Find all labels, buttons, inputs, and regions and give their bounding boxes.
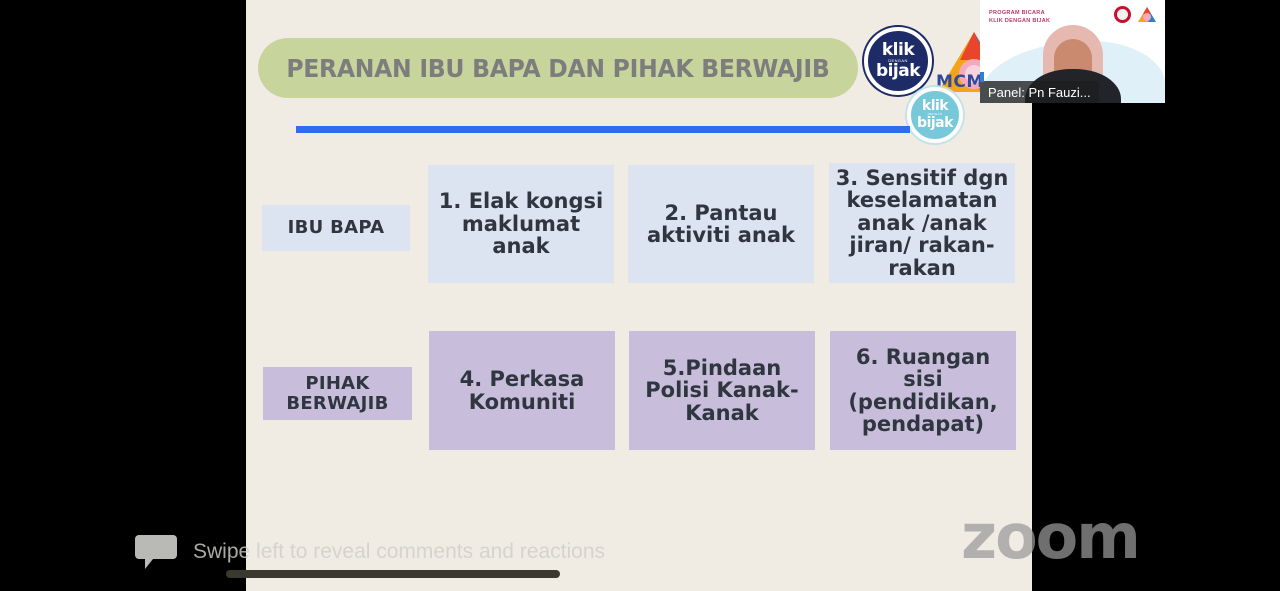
content-box-item-4: 4. Perkasa Komuniti [429,331,615,450]
logo-line-bijak: bijak [876,63,920,79]
program-title-line-1: PROGRAM BICARA [989,9,1050,17]
klik-dengan-bijak-dark-logo: klik DENGAN bijak [864,27,932,95]
klik-dengan-bijak-light-logo: klik DENGAN bijak [907,87,963,143]
logo-line-klik: klik [882,42,914,58]
panelist-video-thumbnail[interactable]: PROGRAM BICARA KLIK DENGAN BIJAK Panel: … [980,0,1165,103]
logo-line-klik: klik [922,100,948,113]
mcmc-triangle-icon [1137,6,1157,23]
thumbnail-accent-bar [980,72,984,82]
slide-title: PERANAN IBU BAPA DAN PIHAK BERWAJIB [286,54,829,83]
comments-hint-text: Swipe left to reveal comments and reacti… [193,540,605,564]
slide-title-banner: PERANAN IBU BAPA DAN PIHAK BERWAJIB [258,38,858,98]
title-divider-rule [296,126,910,133]
content-box-item-5: 5.Pindaan Polisi Kanak-Kanak [629,331,815,450]
speech-bubble-icon[interactable] [133,533,179,571]
category-label-ibu-bapa: IBU BAPA [262,205,410,251]
scrollbar-thumb[interactable] [226,570,560,578]
participant-name: Panel: Pn Fauzi... [988,85,1091,100]
participant-name-bar: Panel: Pn Fauzi... [980,81,1099,103]
content-box-item-6: 6. Ruangan sisi (pendidikan, pendapat) [830,331,1016,450]
content-box-item-1: 1. Elak kongsi maklumat anak [428,165,614,283]
shared-screen-slide[interactable]: PERANAN IBU BAPA DAN PIHAK BERWAJIB klik… [246,0,1032,591]
slide-horizontal-scrollbar[interactable] [226,568,566,580]
category-label-pihak-berwajib: PIHAK BERWAJIB [263,367,412,420]
logo-line-bijak: bijak [917,117,953,130]
comments-hint[interactable]: Swipe left to reveal comments and reacti… [133,533,605,571]
content-box-item-2: 2. Pantau aktiviti anak [628,165,814,283]
content-box-item-3: 3. Sensitif dgn keselamatan anak /anak j… [829,163,1015,283]
zoom-meeting-window: PERANAN IBU BAPA DAN PIHAK BERWAJIB klik… [0,0,1280,591]
